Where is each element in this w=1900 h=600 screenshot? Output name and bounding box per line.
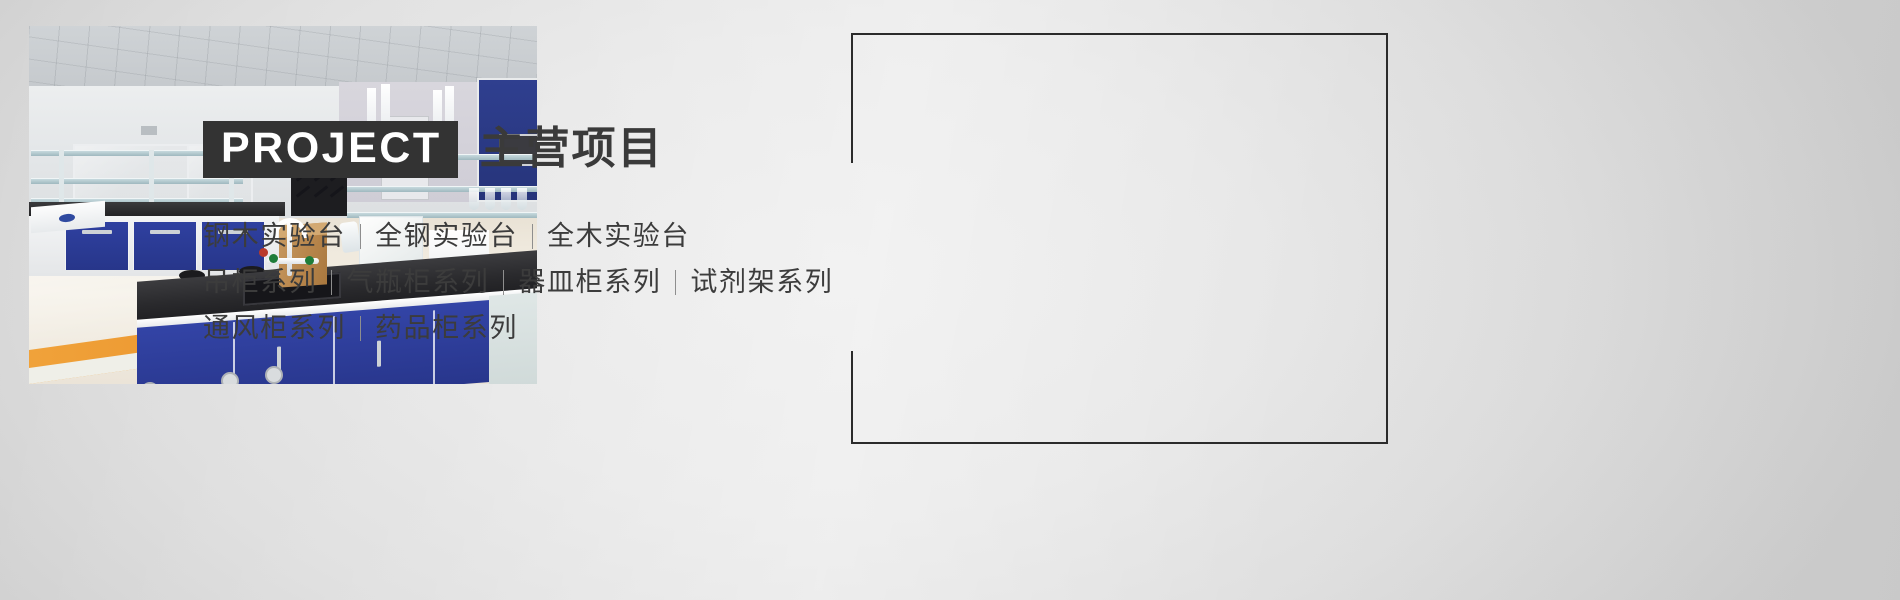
category-item[interactable]: 气瓶柜系列 — [346, 269, 489, 296]
frame-line-right — [1386, 33, 1388, 444]
category-item[interactable]: 全木实验台 — [547, 223, 690, 250]
category-row-2: 吊柜系列 气瓶柜系列 器皿柜系列 试剂架系列 — [203, 259, 903, 305]
category-item[interactable]: 吊柜系列 — [203, 269, 317, 296]
back-bench-blue-door — [133, 222, 197, 270]
shelf-post — [149, 150, 154, 202]
separator — [532, 224, 533, 249]
category-list: 钢木实验台 全钢实验台 全木实验台 吊柜系列 气瓶柜系列 器皿柜系列 试剂架系列… — [203, 213, 903, 351]
page-title-kicker: PROJECT — [203, 121, 458, 178]
frame-line-top — [851, 33, 1388, 35]
photo-frame — [851, 33, 1388, 444]
category-row-3: 通风柜系列 药品柜系列 — [203, 305, 903, 351]
separator — [360, 224, 361, 249]
bench-caster — [265, 366, 283, 384]
separator — [331, 270, 332, 295]
banner-text-block: PROJECT 主营项目 钢木实验台 全钢实验台 全木实验台 吊柜系列 气瓶柜系… — [203, 118, 903, 351]
category-item[interactable]: 钢木实验台 — [203, 223, 346, 250]
separator — [503, 270, 504, 295]
frame-line-bottom — [851, 442, 1388, 444]
category-item[interactable]: 全钢实验台 — [375, 223, 518, 250]
separator — [675, 270, 676, 295]
category-item[interactable]: 试剂架系列 — [690, 269, 833, 296]
page-title: 主营项目 — [480, 127, 664, 171]
category-item[interactable]: 药品柜系列 — [375, 315, 518, 342]
banner-heading: PROJECT 主营项目 — [203, 118, 903, 180]
category-item[interactable]: 通风柜系列 — [203, 315, 346, 342]
frame-line-left-lower — [851, 351, 853, 444]
bench-caster — [221, 372, 239, 384]
category-item[interactable]: 器皿柜系列 — [518, 269, 661, 296]
wall-fixture — [141, 126, 157, 135]
separator — [360, 316, 361, 341]
project-banner: PROJECT 主营项目 钢木实验台 全钢实验台 全木实验台 吊柜系列 气瓶柜系… — [0, 0, 1900, 600]
shelf-post — [59, 150, 64, 202]
category-row-1: 钢木实验台 全钢实验台 全木实验台 — [203, 213, 903, 259]
